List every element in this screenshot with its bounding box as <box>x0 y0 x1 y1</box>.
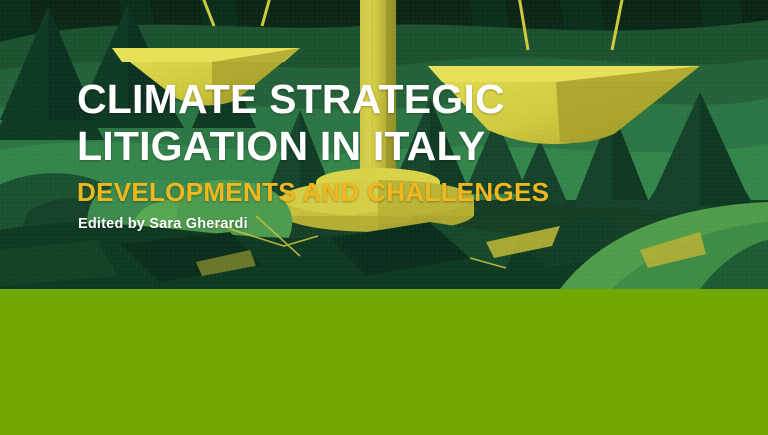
title-block: CLIMATE STRATEGIC LITIGATION IN ITALY DE… <box>77 76 697 207</box>
book-cover: CLIMATE STRATEGIC LITIGATION IN ITALY DE… <box>0 0 768 435</box>
footer-band: CILD Italian Coalition for Civil Liberti… <box>0 289 768 435</box>
editor-credit: Edited by Sara Gherardi <box>78 216 248 232</box>
page-title-line-2: LITIGATION IN ITALY <box>77 123 697 170</box>
page-title-line-1: CLIMATE STRATEGIC <box>77 76 697 123</box>
page-subtitle: DEVELOPMENTS AND CHALLENGES <box>77 177 697 207</box>
